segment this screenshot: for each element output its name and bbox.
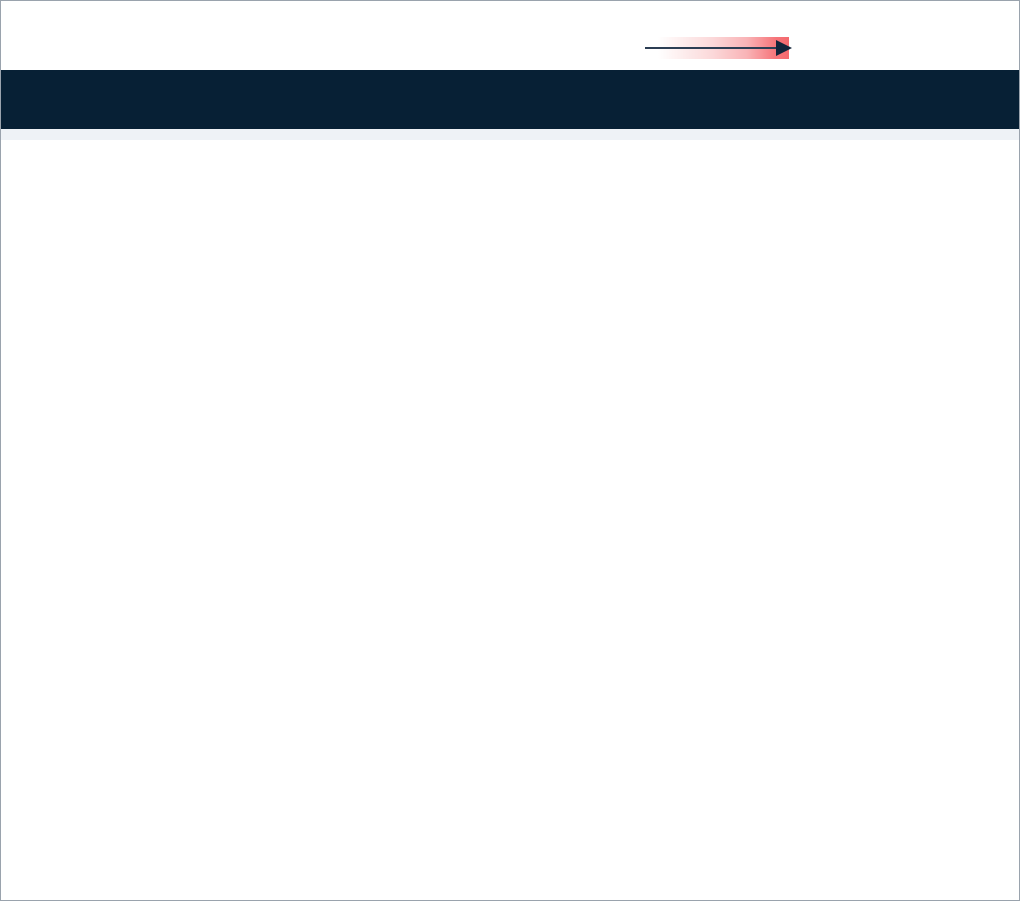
volatility-arrow-head-icon: [776, 40, 792, 56]
header-cell-spot: [153, 70, 271, 129]
header-gap-strip: [1, 129, 1019, 140]
header-cell-spot-position: [771, 70, 906, 129]
volatility-arrow-line: [645, 47, 778, 49]
header-cell-low: [516, 70, 633, 129]
header-cell-trend: [906, 70, 1019, 129]
market-snapshot-table: [0, 0, 1020, 901]
volatility-legend: [656, 13, 796, 65]
header-cell-high: [404, 70, 516, 129]
footer-notes: [1, 841, 1019, 845]
header-cell-name: [1, 70, 153, 129]
header-cell-performance: [271, 70, 404, 129]
header-cell-trading-range: [633, 70, 771, 129]
table-header: [1, 70, 1019, 129]
